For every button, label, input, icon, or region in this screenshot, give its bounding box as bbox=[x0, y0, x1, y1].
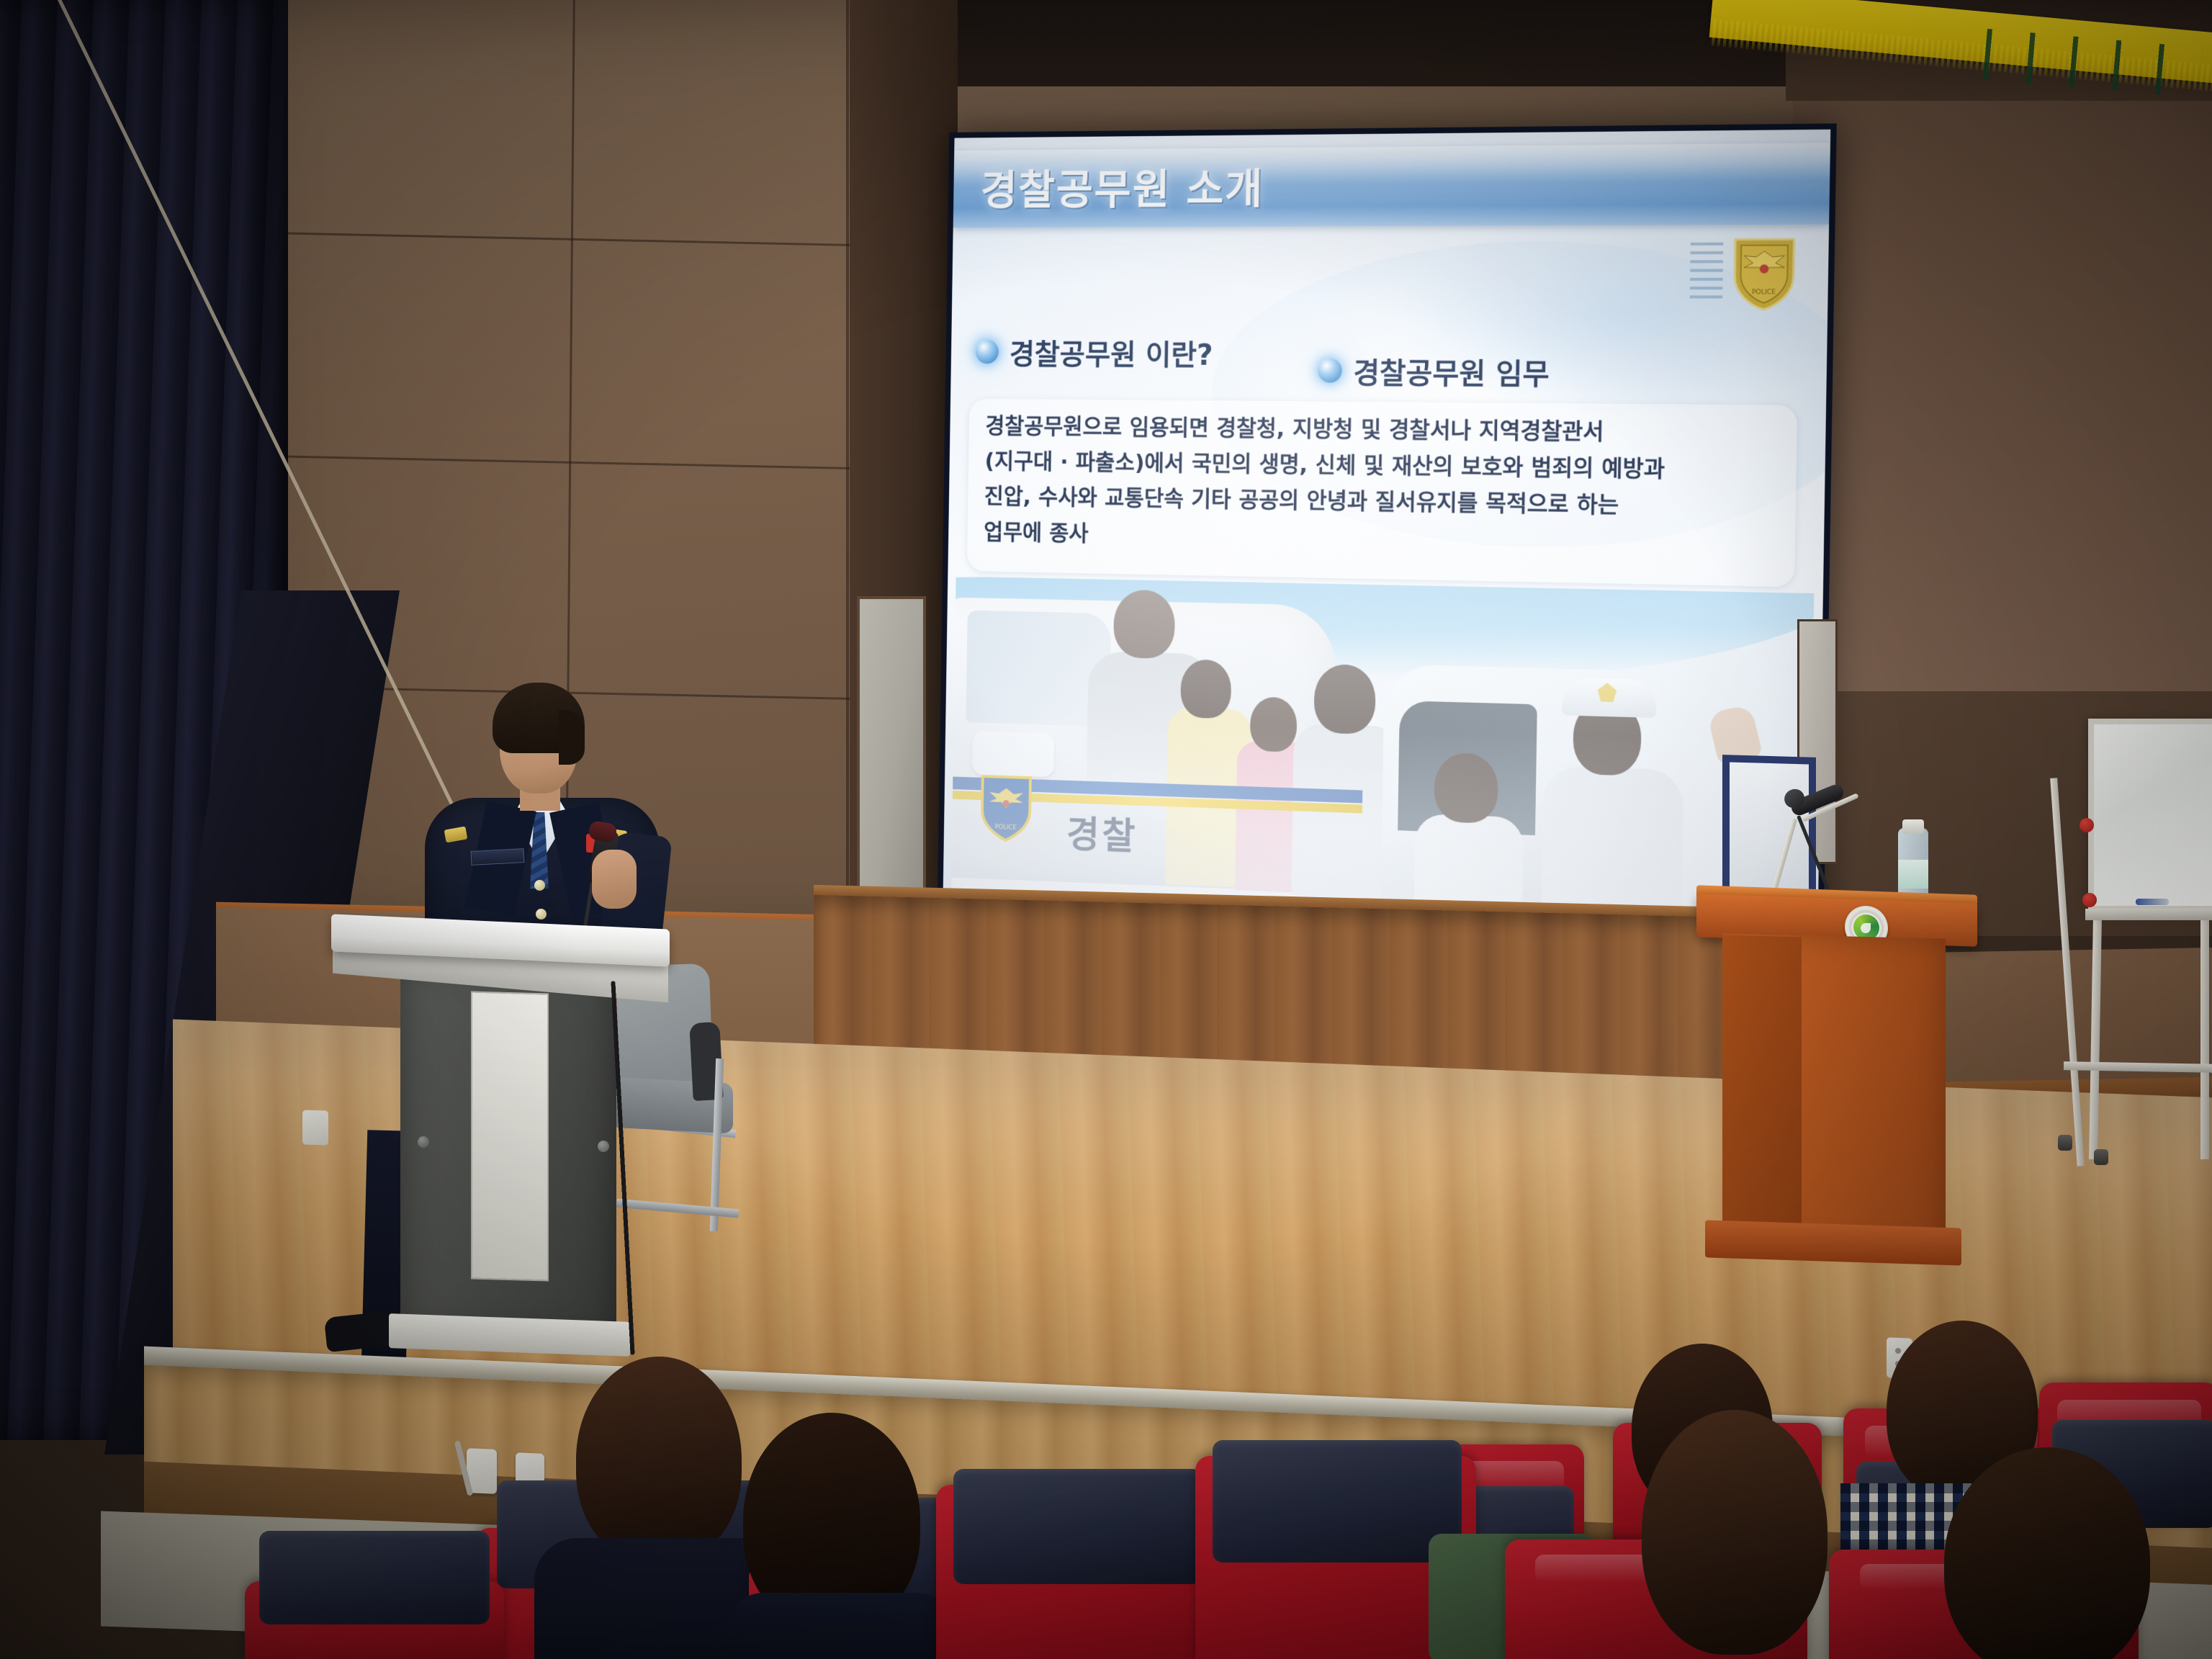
audience-head bbox=[1642, 1410, 1827, 1655]
slide-bullet-2-label: 경찰공무원 임무 bbox=[1353, 350, 1550, 393]
slide-photo-collage: POLICE 경찰 bbox=[951, 577, 1814, 924]
whiteboard-adjust-knob[interactable] bbox=[2082, 893, 2097, 907]
uniform-button bbox=[536, 909, 547, 920]
projection-screen: 경찰공무원 소개 POLICE 경찰공무원 이란? 경찰공무원 임무 경 bbox=[938, 123, 1837, 939]
podium-side-face bbox=[1722, 935, 1802, 1253]
lectern-fastener bbox=[418, 1136, 429, 1148]
slide-title: 경찰공무원 소개 bbox=[981, 155, 1265, 216]
list-item[interactable] bbox=[259, 1531, 490, 1624]
list-item[interactable] bbox=[953, 1469, 1202, 1584]
whiteboard-adjust-knob[interactable] bbox=[2080, 818, 2094, 832]
uniform-button bbox=[534, 880, 545, 891]
audience-head bbox=[576, 1357, 742, 1563]
list-item[interactable] bbox=[1213, 1440, 1462, 1563]
svg-text:POLICE: POLICE bbox=[1752, 289, 1776, 296]
bullet-dot-icon bbox=[1318, 359, 1342, 383]
water-bottle-cap[interactable] bbox=[1902, 819, 1924, 834]
whiteboard-caster bbox=[2058, 1135, 2072, 1151]
presentation-slide: 경찰공무원 소개 POLICE 경찰공무원 이란? 경찰공무원 임무 경 bbox=[943, 130, 1831, 933]
bullet-dot-icon bbox=[976, 340, 999, 364]
whiteboard-caster bbox=[2094, 1149, 2108, 1165]
outlet-socket-hole bbox=[1895, 1348, 1901, 1354]
auditorium-wall-right bbox=[1793, 0, 2212, 691]
podium-display-board bbox=[1722, 755, 1816, 909]
slide-body-text: 경찰공무원으로 임용되면 경찰청, 지방청 및 경찰서나 지역경찰관서 (지구대… bbox=[984, 408, 1787, 564]
wall-speaker-left bbox=[857, 596, 926, 906]
auditorium-photo: 경찰공무원 소개 POLICE 경찰공무원 이란? 경찰공무원 임무 경 bbox=[0, 0, 2212, 1659]
podium-base bbox=[1705, 1220, 1961, 1265]
korean-police-shield-icon: POLICE bbox=[1731, 235, 1797, 312]
whiteboard-marker[interactable] bbox=[2136, 899, 2169, 905]
audience-shoulders bbox=[721, 1593, 959, 1659]
whiteboard-surface[interactable] bbox=[2088, 719, 2212, 912]
slide-bullet-2: 경찰공무원 임무 bbox=[1318, 350, 1550, 393]
school-crest-mark bbox=[1861, 923, 1871, 933]
wall-seam bbox=[846, 0, 849, 958]
presenter-hand bbox=[592, 850, 637, 909]
lectern-front-panel bbox=[471, 991, 549, 1281]
wall-outlet-plate[interactable] bbox=[302, 1110, 328, 1145]
lectern-fastener bbox=[598, 1141, 609, 1152]
slide-bullet-1-label: 경찰공무원 이란? bbox=[1010, 331, 1213, 373]
presenter-nameplate bbox=[471, 848, 525, 866]
emblem-side-lines bbox=[1689, 243, 1723, 302]
water-bottle-label bbox=[1898, 860, 1928, 889]
whiteboard-marker-tray bbox=[2085, 909, 2212, 920]
slide-bullet-1: 경찰공무원 이란? bbox=[975, 331, 1213, 373]
photo-washout-overlay bbox=[951, 577, 1814, 924]
